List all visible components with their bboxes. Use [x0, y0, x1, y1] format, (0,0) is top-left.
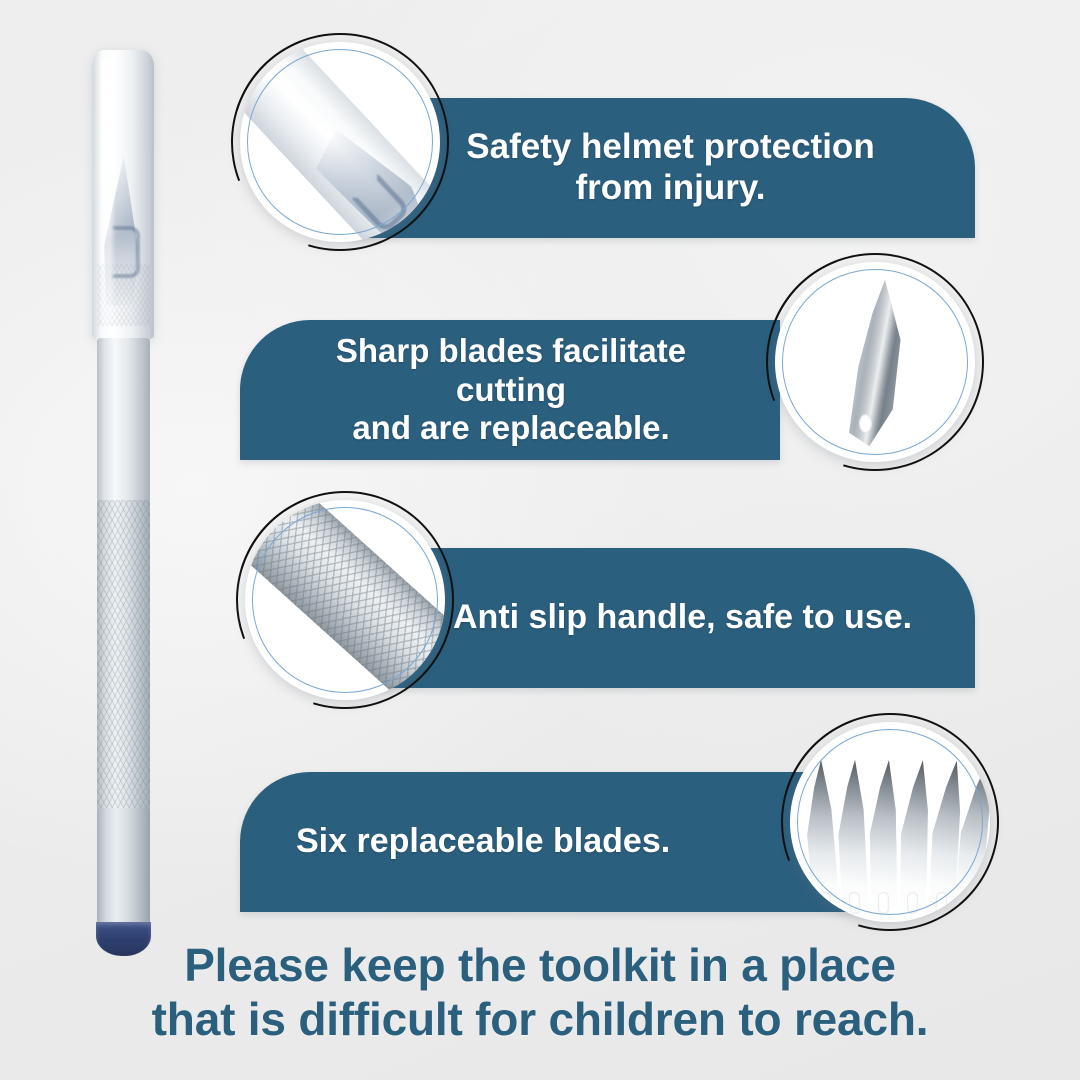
callout-3-disc	[245, 500, 445, 700]
feature-2-line-2: and are replaceable.	[352, 409, 669, 446]
safety-caption-line-1: Please keep the toolkit in a place	[0, 938, 1080, 992]
safety-caption: Please keep the toolkit in a place that …	[0, 938, 1080, 1047]
fan-blade-1-hole	[819, 891, 832, 914]
knurled-handle-photo	[245, 500, 445, 700]
fan-blade-3	[865, 760, 901, 922]
fan-blade-5-hole	[935, 892, 947, 915]
fan-blade-3-hole	[878, 892, 889, 914]
fan-blade-4	[896, 760, 932, 922]
lower-barrel	[97, 808, 150, 936]
fan-blade-2-hole	[849, 892, 861, 915]
blade-edge-highlight	[835, 280, 913, 446]
capped-blade-notch-icon	[351, 173, 411, 234]
feature-banner-2-text: Sharp blades facilitate cutting and are …	[240, 332, 780, 448]
fan-blade-1	[797, 759, 845, 922]
feature-banner-1: Safety helmet protection from injury.	[350, 98, 975, 238]
cap-gloss-highlight	[101, 58, 113, 326]
feature-banner-2: Sharp blades facilitate cutting and are …	[240, 320, 780, 460]
callout-2-disc	[775, 262, 975, 462]
feature-1-line-1: Safety helmet protection	[466, 127, 874, 166]
callout-1-disc	[240, 42, 440, 242]
metal-collar	[97, 338, 150, 504]
product-knife-photo	[72, 38, 190, 973]
safety-caption-line-2: that is difficult for children to reach.	[0, 992, 1080, 1046]
product-feature-infographic: Safety helmet protection from injury. Sh…	[0, 0, 1080, 1080]
knurled-shaft	[97, 500, 150, 812]
fan-blade-6-hole	[961, 891, 974, 914]
feature-banner-1-text: Safety helmet protection from injury.	[350, 127, 975, 209]
feature-2-line-1: Sharp blades facilitate cutting	[336, 332, 686, 408]
feature-4-line-1: Six replaceable blades.	[296, 822, 670, 860]
feature-callout-circle-3	[245, 500, 445, 700]
feature-1-line-2: from injury.	[576, 168, 766, 207]
feature-3-line-1: Anti slip handle, safe to use.	[453, 598, 912, 636]
capped-blade-tip-photo	[240, 42, 440, 242]
fan-blade-4-hole	[907, 892, 918, 914]
blade-mount-hole	[859, 414, 872, 433]
callout-4-disc	[790, 722, 990, 922]
feature-callout-circle-2	[775, 262, 975, 462]
feature-callout-circle-1	[240, 42, 440, 242]
six-blades-fan-photo	[790, 722, 990, 922]
feature-callout-circle-4	[790, 722, 990, 922]
